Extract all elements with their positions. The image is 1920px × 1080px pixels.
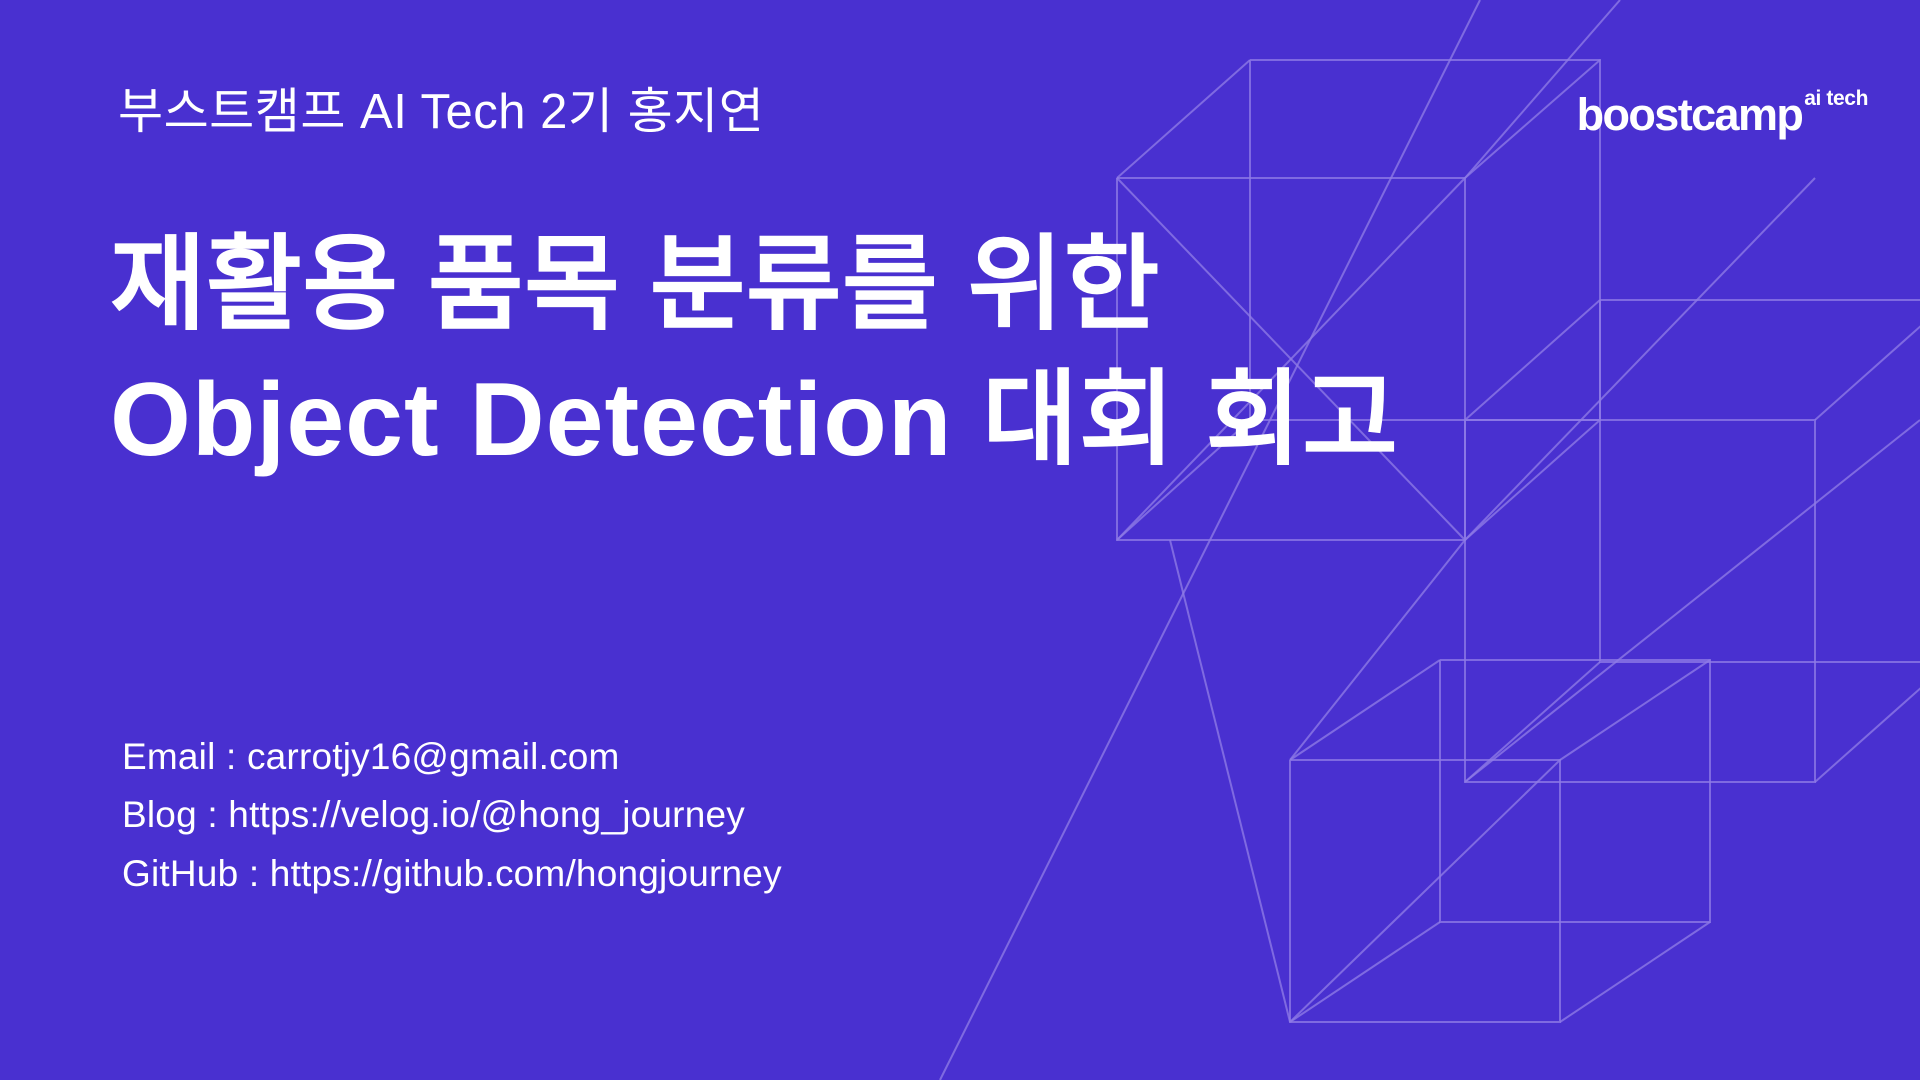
page-title: 재활용 품목 분류를 위한 Object Detection 대회 회고: [110, 218, 1750, 488]
boostcamp-logo: boostcamp ai tech: [1577, 92, 1868, 137]
course-author-text: 부스트캠프 AI Tech 2기 홍지연: [118, 88, 764, 137]
contact-github: GitHub : https://github.com/hongjourney: [122, 845, 782, 903]
title-line-1: 재활용 품목 분류를 위한: [110, 218, 1750, 353]
wireframe-cube-bottom: [1290, 660, 1710, 1022]
title-line-2: Object Detection 대회 회고: [110, 353, 1750, 488]
contact-info: Email : carrotjy16@gmail.com Blog : http…: [122, 728, 782, 903]
cube-wireframe-decoration: [0, 0, 1920, 1080]
brand-superscript-text: ai tech: [1804, 88, 1868, 109]
brand-name-text: boostcamp: [1577, 92, 1803, 137]
contact-email: Email : carrotjy16@gmail.com: [122, 728, 782, 786]
contact-blog: Blog : https://velog.io/@hong_journey: [122, 786, 782, 844]
title-slide: 부스트캠프 AI Tech 2기 홍지연 boostcamp ai tech 재…: [0, 0, 1920, 1080]
course-author-line: 부스트캠프 AI Tech 2기 홍지연: [118, 88, 764, 137]
wireframe-long-diagonals: [940, 0, 1920, 1080]
